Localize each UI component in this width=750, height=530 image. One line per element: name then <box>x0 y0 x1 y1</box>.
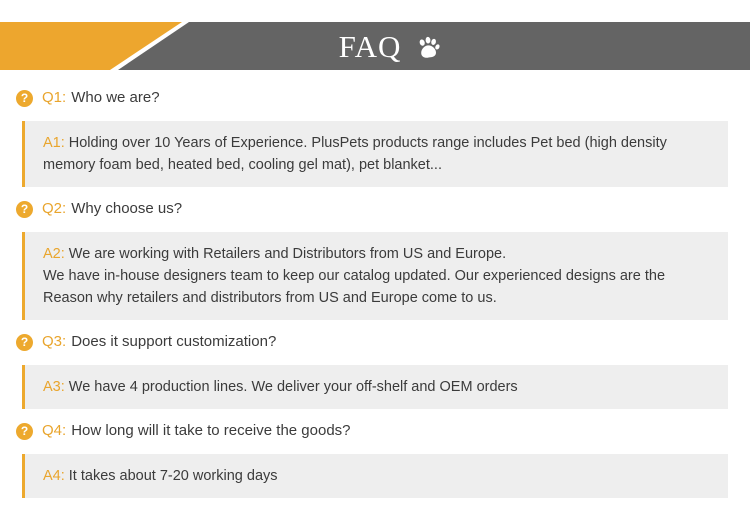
answer-label: A3: <box>43 379 65 395</box>
question-text: Does it support customization? <box>71 332 750 352</box>
answer-line: We have in-house designers team to keep … <box>43 265 714 309</box>
faq-question-row[interactable]: ? Q3: Does it support customization? <box>0 332 750 360</box>
faq-item: ? Q4: How long will it take to receive t… <box>0 421 750 498</box>
question-text: How long will it take to receive the goo… <box>71 421 750 441</box>
answer-label: A1: <box>43 135 65 151</box>
question-mark-icon: ? <box>16 334 33 351</box>
faq-item: ? Q2: Why choose us? A2:We are working w… <box>0 199 750 332</box>
spacer <box>0 320 750 332</box>
question-mark-icon: ? <box>16 423 33 440</box>
faq-question-row[interactable]: ? Q1: Who we are? <box>0 88 750 116</box>
faq-item: ? Q1: Who we are? A1:Holding over 10 Yea… <box>0 88 750 199</box>
faq-answer-box: A4:It takes about 7-20 working days <box>22 454 728 498</box>
page-title: FAQ <box>339 31 402 62</box>
answer-text: Holding over 10 Years of Experience. Plu… <box>43 135 667 173</box>
faq-answer-box: A3:We have 4 production lines. We delive… <box>22 365 728 409</box>
question-label: Q3: <box>42 332 66 352</box>
answer-label: A4: <box>43 468 65 484</box>
spacer <box>0 187 750 199</box>
spacer <box>0 409 750 421</box>
question-mark-icon: ? <box>16 90 33 107</box>
question-mark-icon: ? <box>16 201 33 218</box>
faq-answer-box: A2:We are working with Retailers and Dis… <box>22 232 728 320</box>
question-label: Q2: <box>42 199 66 219</box>
faq-question-row[interactable]: ? Q4: How long will it take to receive t… <box>0 421 750 449</box>
answer-line: A1:Holding over 10 Years of Experience. … <box>43 132 714 176</box>
answer-line: A2:We are working with Retailers and Dis… <box>43 243 714 265</box>
question-text: Why choose us? <box>71 199 750 219</box>
answer-label: A2: <box>43 246 65 262</box>
header-title-container: FAQ <box>0 22 750 70</box>
answer-text: We have 4 production lines. We deliver y… <box>69 379 518 395</box>
question-label: Q4: <box>42 421 66 441</box>
paw-icon <box>415 35 441 61</box>
answer-line: A4:It takes about 7-20 working days <box>43 465 714 487</box>
faq-answer-box: A1:Holding over 10 Years of Experience. … <box>22 121 728 187</box>
faq-question-row[interactable]: ? Q2: Why choose us? <box>0 199 750 227</box>
faq-item: ? Q3: Does it support customization? A3:… <box>0 332 750 421</box>
question-label: Q1: <box>42 88 66 108</box>
faq-header-banner: FAQ <box>0 22 750 70</box>
answer-text: It takes about 7-20 working days <box>69 468 278 484</box>
question-text: Who we are? <box>71 88 750 108</box>
answer-line: A3:We have 4 production lines. We delive… <box>43 376 714 398</box>
faq-list: ? Q1: Who we are? A1:Holding over 10 Yea… <box>0 88 750 498</box>
answer-text: We are working with Retailers and Distri… <box>69 246 506 262</box>
faq-page: FAQ ? Q1: Who we are? A1:Holding o <box>0 0 750 530</box>
